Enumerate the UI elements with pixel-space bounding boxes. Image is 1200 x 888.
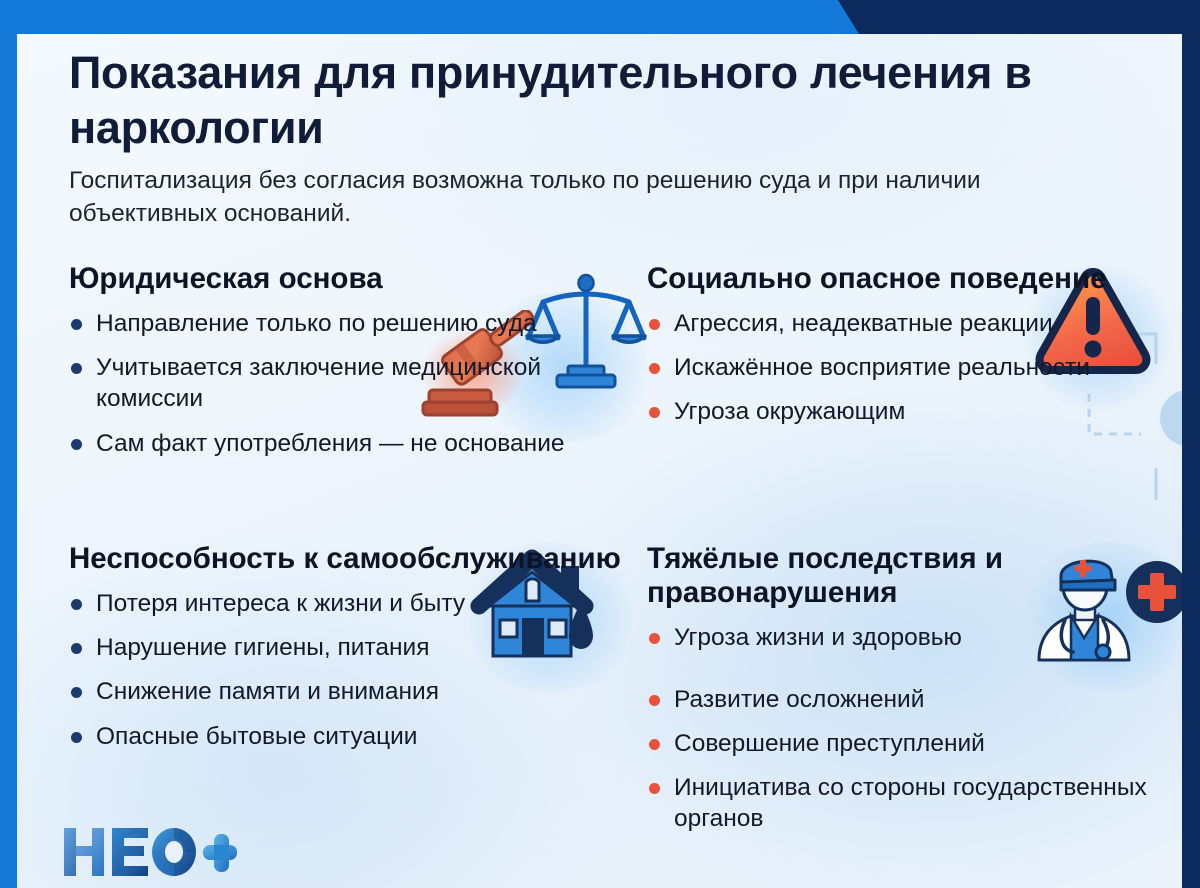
right-navy-border	[1182, 0, 1200, 888]
left-blue-border	[0, 0, 17, 888]
list-item: Нарушение гигиены, питания	[69, 632, 629, 663]
list-item: Учитывается заключение медицинской комис…	[69, 352, 614, 414]
bullet-list: Агрессия, неадекватные реакции Искажённо…	[647, 308, 1177, 427]
bullet-list: Развитие осложнений Совершение преступле…	[647, 684, 1182, 834]
bullet-list: Направление только по решению суда Учиты…	[69, 308, 614, 458]
tick-mark-icon	[1152, 467, 1160, 501]
list-item: Сам факт употребления — не основание	[69, 428, 614, 459]
list-item: Угроза окружающим	[647, 396, 1177, 427]
bullet-list-highlight: Угроза жизни и здоровью	[647, 622, 1182, 653]
section-self-care-inability: Неспособность к самообслуживанию Потеря …	[69, 542, 629, 765]
section-dangerous-behavior: Социально опасное поведение Агрессия, не…	[647, 262, 1177, 441]
list-item: Развитие осложнений	[647, 684, 1182, 715]
section-heading: Социально опасное поведение	[647, 262, 1177, 296]
page-subtitle: Госпитализация без согласия возможна тол…	[69, 165, 1029, 230]
section-heading: Неспособность к самообслуживанию	[69, 542, 629, 576]
list-item: Снижение памяти и внимания	[69, 676, 629, 707]
list-item: Потеря интереса к жизни и быту	[69, 588, 629, 619]
list-item: Агрессия, неадекватные реакции	[647, 308, 1177, 339]
list-item: Инициатива со стороны государственных ор…	[647, 772, 1182, 834]
red-divider	[675, 665, 1075, 668]
top-blue-band	[0, 0, 900, 34]
bullet-list: Потеря интереса к жизни и быту Нарушение…	[69, 588, 629, 751]
page-title: Показания для принудительного лечения в …	[69, 46, 1059, 156]
section-heading: Тяжёлые последствия и правонарушения	[647, 542, 1182, 610]
list-item: Опасные бытовые ситуации	[69, 721, 629, 752]
list-item: Направление только по решению суда	[69, 308, 614, 339]
list-item: Совершение преступлений	[647, 728, 1182, 759]
poster-surface: Показания для принудительного лечения в …	[17, 34, 1182, 888]
section-legal-basis: Юридическая основа Направление только по…	[69, 262, 614, 472]
list-item-highlight: Угроза жизни и здоровью	[647, 622, 1182, 653]
logo-mark	[62, 824, 237, 880]
list-item: Искажённое восприятие реальности	[647, 352, 1177, 383]
section-heading: Юридическая основа	[69, 262, 614, 296]
neo-plus-logo	[62, 824, 237, 885]
section-severe-consequences: Тяжёлые последствия и правонарушения Угр…	[647, 542, 1182, 847]
infographic-poster: Показания для принудительного лечения в …	[0, 0, 1200, 888]
